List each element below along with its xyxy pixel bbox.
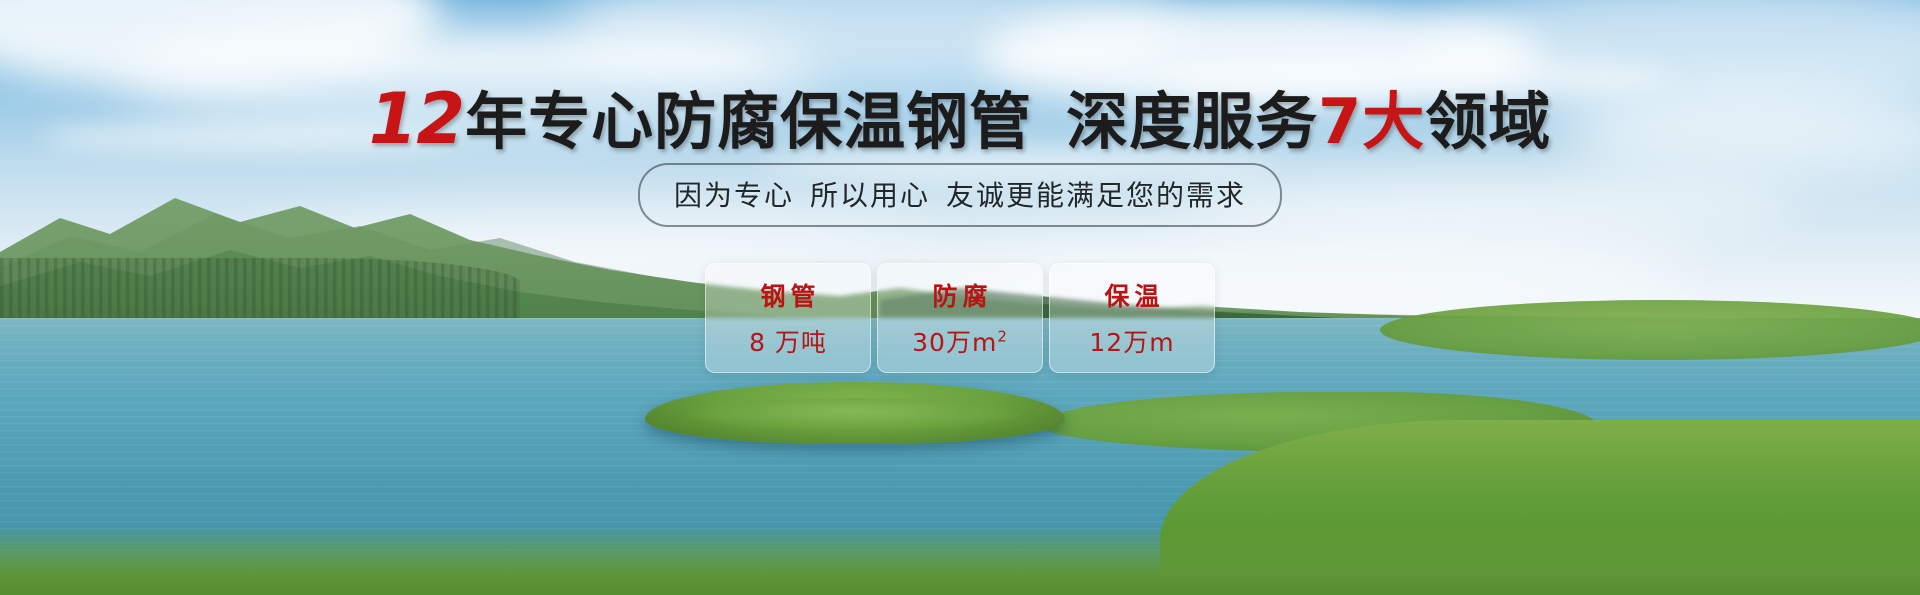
stat-card: 防腐 30万m2 [877, 263, 1043, 373]
stat-card-value: 30万m2 [912, 323, 1008, 359]
banner-subtitle-pill: 因为专心所以用心友诚更能满足您的需求 [638, 163, 1282, 227]
stat-card: 保温 12万m [1049, 263, 1215, 373]
stat-value-number: 30 [912, 328, 946, 357]
stat-card-value: 12万m [1089, 323, 1174, 359]
stat-value-number: 12 [1089, 328, 1123, 357]
promo-banner: 12年专心防腐保温钢管深度服务7大领域 因为专心所以用心友诚更能满足您的需求 钢… [0, 0, 1920, 595]
stat-value-superscript: 2 [997, 328, 1008, 346]
stat-card-label: 保温 [1099, 277, 1164, 313]
stat-card-value: 8 万吨 [749, 323, 827, 359]
stat-card: 钢管 8 万吨 [705, 263, 871, 373]
stat-value-unit: 万吨 [775, 328, 827, 357]
headline-highlight: 7大 [1318, 85, 1425, 158]
stat-card-label: 钢管 [755, 277, 820, 313]
subtitle-segment-2: 所以用心 [810, 179, 930, 212]
stat-card-group: 钢管 8 万吨 防腐 30万m2 保温 12万m [705, 263, 1215, 373]
subtitle-segment-3: 友诚更能满足您的需求 [946, 179, 1246, 212]
stat-value-unit: 万m [1123, 328, 1174, 357]
headline-part-two: 深度服务 [1066, 85, 1318, 158]
banner-headline: 12年专心防腐保温钢管深度服务7大领域 [0, 84, 1920, 154]
subtitle-segment-1: 因为专心 [674, 179, 794, 212]
stat-card-label: 防腐 [927, 277, 992, 313]
headline-part-three: 领域 [1425, 85, 1551, 158]
headline-years-number: 12 [369, 78, 464, 160]
stat-value-number: 8 [749, 328, 766, 357]
headline-part-one: 年专心防腐保温钢管 [465, 85, 1032, 158]
stat-value-unit: 万m [946, 328, 997, 357]
